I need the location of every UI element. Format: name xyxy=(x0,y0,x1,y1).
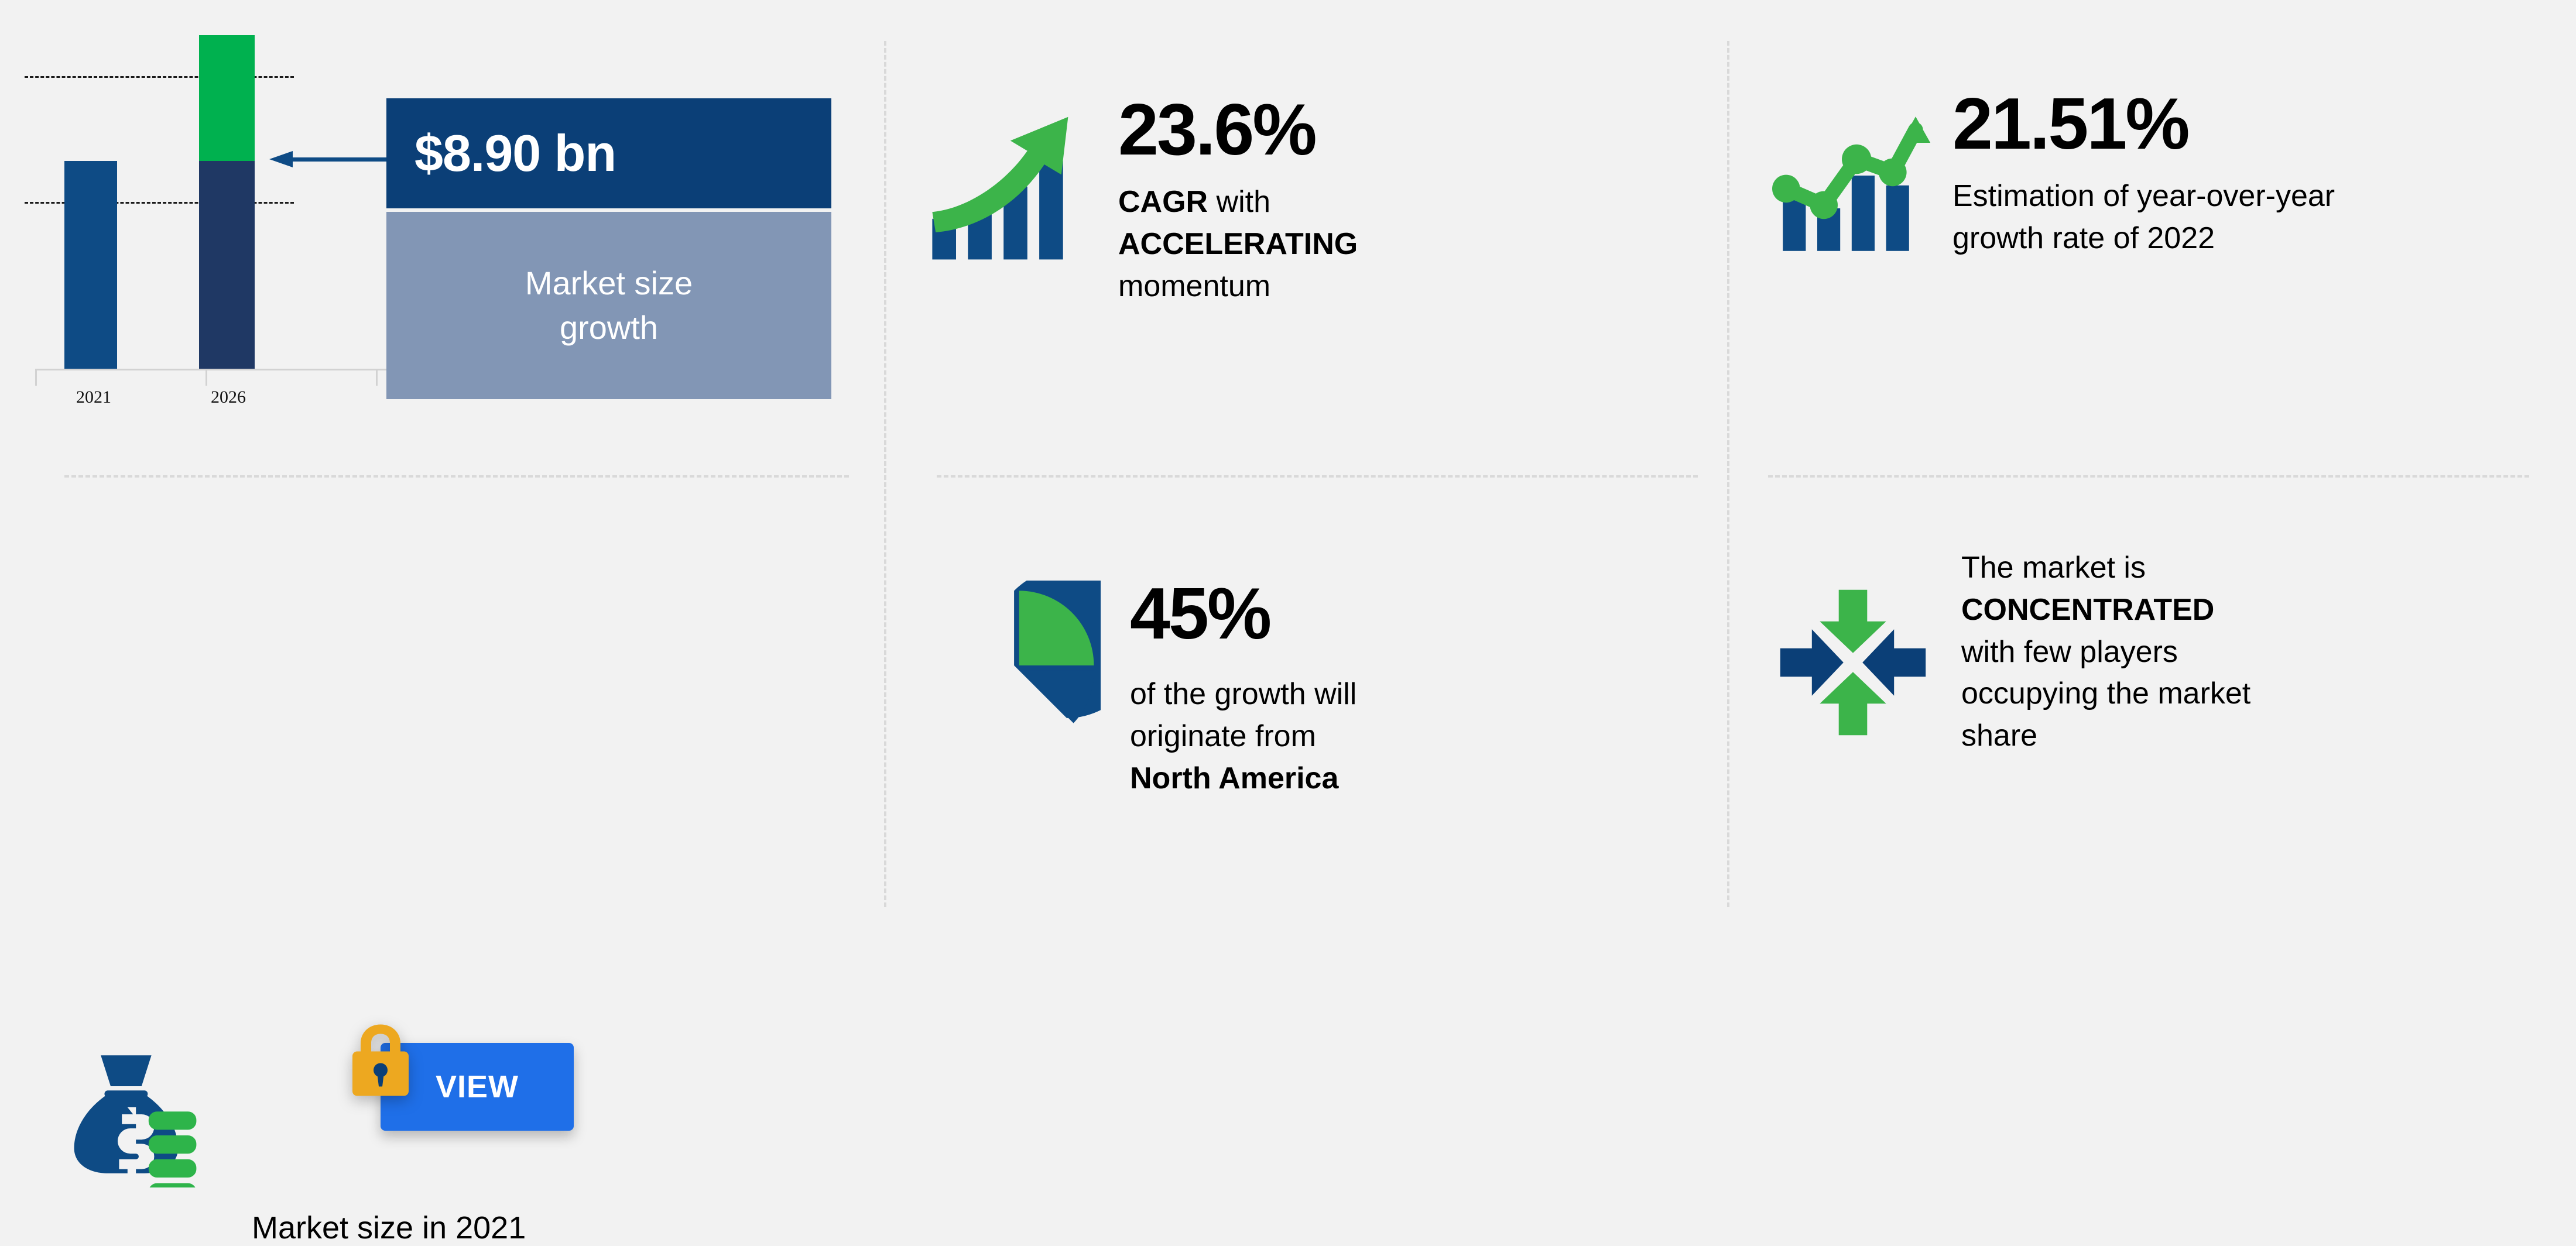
na-description: of the growth will originate from North … xyxy=(1130,674,1356,799)
market-growth-value: $8.90 bn xyxy=(386,98,831,208)
concentration-line1: The market is xyxy=(1961,547,2250,589)
growth-arrow-bars-icon xyxy=(919,94,1095,269)
infographic-canvas: 2021 2026 $8.90 bn Market size growth xyxy=(0,0,2576,970)
cagr-momentum-word: momentum xyxy=(1118,266,1358,308)
money-bag-icon xyxy=(59,1038,205,1190)
cagr-description: CAGR with ACCELERATING momentum xyxy=(1118,181,1358,307)
cagr-label-rest: with xyxy=(1208,185,1270,219)
concentration-line3: with few players xyxy=(1961,631,2250,674)
na-line2: originate from xyxy=(1130,716,1356,758)
line-bar-chart-icon xyxy=(1765,88,1935,263)
na-text: 45% of the growth will originate from No… xyxy=(1130,578,1356,799)
bar-2026-base xyxy=(199,161,255,369)
cagr-text: 23.6% CAGR with ACCELERATING momentum xyxy=(1118,94,1358,307)
market-size-2021-panel: VIEW Market size in 2021 xyxy=(0,475,884,970)
bar-2021 xyxy=(64,161,117,369)
concentration-line4: occupying the market xyxy=(1961,673,2250,715)
cagr-value: 23.6% xyxy=(1118,94,1358,166)
converging-arrows-icon xyxy=(1768,537,1938,788)
bar-chart-x-labels: 2021 2026 xyxy=(35,387,386,411)
pie-chart-icon xyxy=(928,578,1104,753)
arrow-head xyxy=(269,151,293,167)
concentration-line5: share xyxy=(1961,715,2250,757)
view-button-wrapper: VIEW xyxy=(345,1020,580,1137)
axis-tick-end xyxy=(376,370,378,386)
axis-tick-middle xyxy=(205,370,207,386)
concentration-content: The market is CONCENTRATED with few play… xyxy=(1768,537,2250,788)
lock-icon xyxy=(345,1020,416,1104)
cagr-content: 23.6% CAGR with ACCELERATING momentum xyxy=(919,94,1358,307)
bar-2026-growth-segment xyxy=(199,35,255,161)
concentration-bold: CONCENTRATED xyxy=(1961,593,2214,627)
market-growth-bar-chart: 2021 2026 xyxy=(35,76,386,410)
axis-tick-start xyxy=(35,370,37,386)
yoy-description: Estimation of year-over-year growth rate… xyxy=(1952,176,2421,260)
yoy-text: 21.51% Estimation of year-over-year grow… xyxy=(1952,88,2421,260)
market-concentration-panel: The market is CONCENTRATED with few play… xyxy=(1727,475,2576,970)
x-label-2021: 2021 xyxy=(47,387,141,407)
north-america-panel: 45% of the growth will originate from No… xyxy=(884,475,1727,970)
na-value: 45% xyxy=(1130,578,1356,650)
x-label-2026: 2026 xyxy=(181,387,275,407)
concentration-description: The market is CONCENTRATED with few play… xyxy=(1961,547,2250,757)
cagr-momentum-bold: ACCELERATING xyxy=(1118,227,1358,261)
market-size-growth-panel: 2021 2026 $8.90 bn Market size growth xyxy=(0,0,884,475)
na-content: 45% of the growth will originate from No… xyxy=(928,578,1356,799)
yoy-value: 21.51% xyxy=(1952,88,2421,160)
market-growth-callout: $8.90 bn Market size growth xyxy=(386,98,831,399)
callout-arrow-icon xyxy=(269,151,404,167)
cagr-panel: 23.6% CAGR with ACCELERATING momentum xyxy=(884,0,1727,475)
na-region-bold: North America xyxy=(1130,761,1338,795)
cagr-label-bold: CAGR xyxy=(1118,185,1208,219)
market-growth-label: Market size growth xyxy=(386,212,831,399)
yoy-growth-panel: 21.51% Estimation of year-over-year grow… xyxy=(1727,0,2576,475)
market-growth-label-line1: Market size xyxy=(525,261,693,306)
market-size-2021-caption: Market size in 2021 xyxy=(252,1210,526,1246)
bar-chart-x-axis xyxy=(35,369,386,386)
concentration-text: The market is CONCENTRATED with few play… xyxy=(1961,547,2250,757)
yoy-content: 21.51% Estimation of year-over-year grow… xyxy=(1765,88,2421,263)
na-line1: of the growth will xyxy=(1130,674,1356,716)
bar-chart-plot-area xyxy=(35,76,386,369)
market-growth-label-line2: growth xyxy=(560,306,658,350)
